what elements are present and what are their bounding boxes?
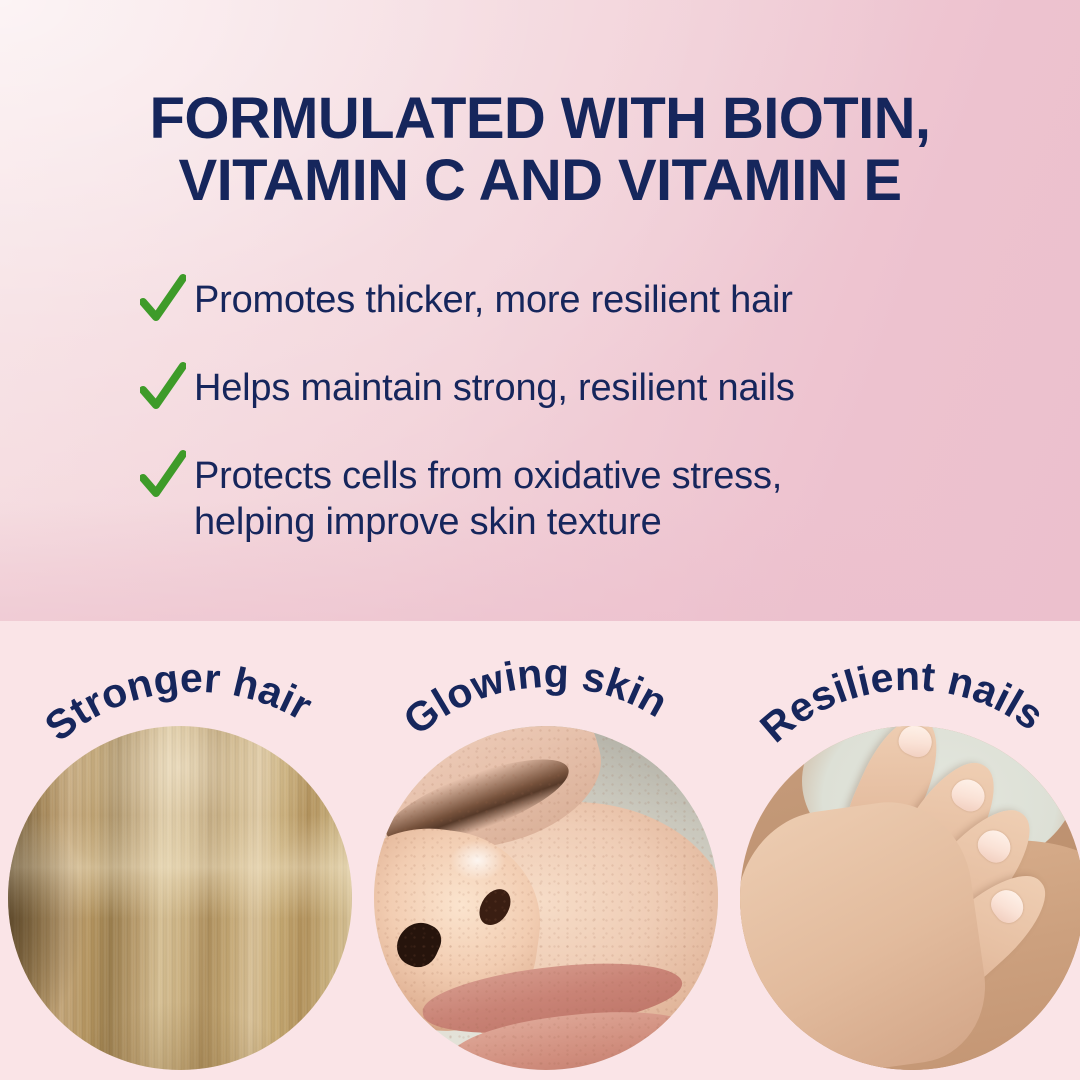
list-item: Promotes thicker, more resilient hair	[140, 276, 1000, 328]
promo-graphic: FORMULATED WITH BIOTIN, VITAMIN C AND VI…	[0, 0, 1080, 1080]
page-title: FORMULATED WITH BIOTIN, VITAMIN C AND VI…	[0, 88, 1080, 212]
hand	[747, 733, 1077, 1070]
benefits-panel: Stronger hair	[0, 621, 1080, 1080]
list-item-label: Helps maintain strong, resilient nails	[194, 364, 795, 411]
check-icon	[140, 450, 186, 502]
list-item: Protects cells from oxidative stress, he…	[140, 452, 1000, 545]
list-item-label: Protects cells from oxidative stress, he…	[194, 452, 782, 545]
hand-nails-photo	[740, 726, 1080, 1070]
benefit-stronger-hair: Stronger hair	[0, 621, 380, 1080]
list-item-label-line-2: helping improve skin texture	[194, 499, 782, 545]
check-icon	[140, 274, 186, 326]
skin-highlight	[450, 840, 505, 881]
benefit-claims-list: Promotes thicker, more resilient hair He…	[140, 276, 1000, 545]
list-item: Helps maintain strong, resilient nails	[140, 364, 1000, 416]
list-item-label-line-1: Protects cells from oxidative stress,	[194, 453, 782, 499]
hair-taper	[8, 919, 352, 1070]
face-closeup-photo	[374, 726, 718, 1070]
headline-line-2: VITAMIN C AND VITAMIN E	[0, 150, 1080, 212]
benefit-resilient-nails: Resilient nails	[736, 621, 1080, 1080]
benefit-glowing-skin: Glowing skin	[364, 621, 730, 1080]
headline-line-1: FORMULATED WITH BIOTIN,	[0, 88, 1080, 150]
blonde-hair-photo	[8, 726, 352, 1070]
list-item-label: Promotes thicker, more resilient hair	[194, 276, 793, 323]
top-panel: FORMULATED WITH BIOTIN, VITAMIN C AND VI…	[0, 0, 1080, 621]
skin-texture	[374, 726, 718, 1070]
check-icon	[140, 362, 186, 414]
